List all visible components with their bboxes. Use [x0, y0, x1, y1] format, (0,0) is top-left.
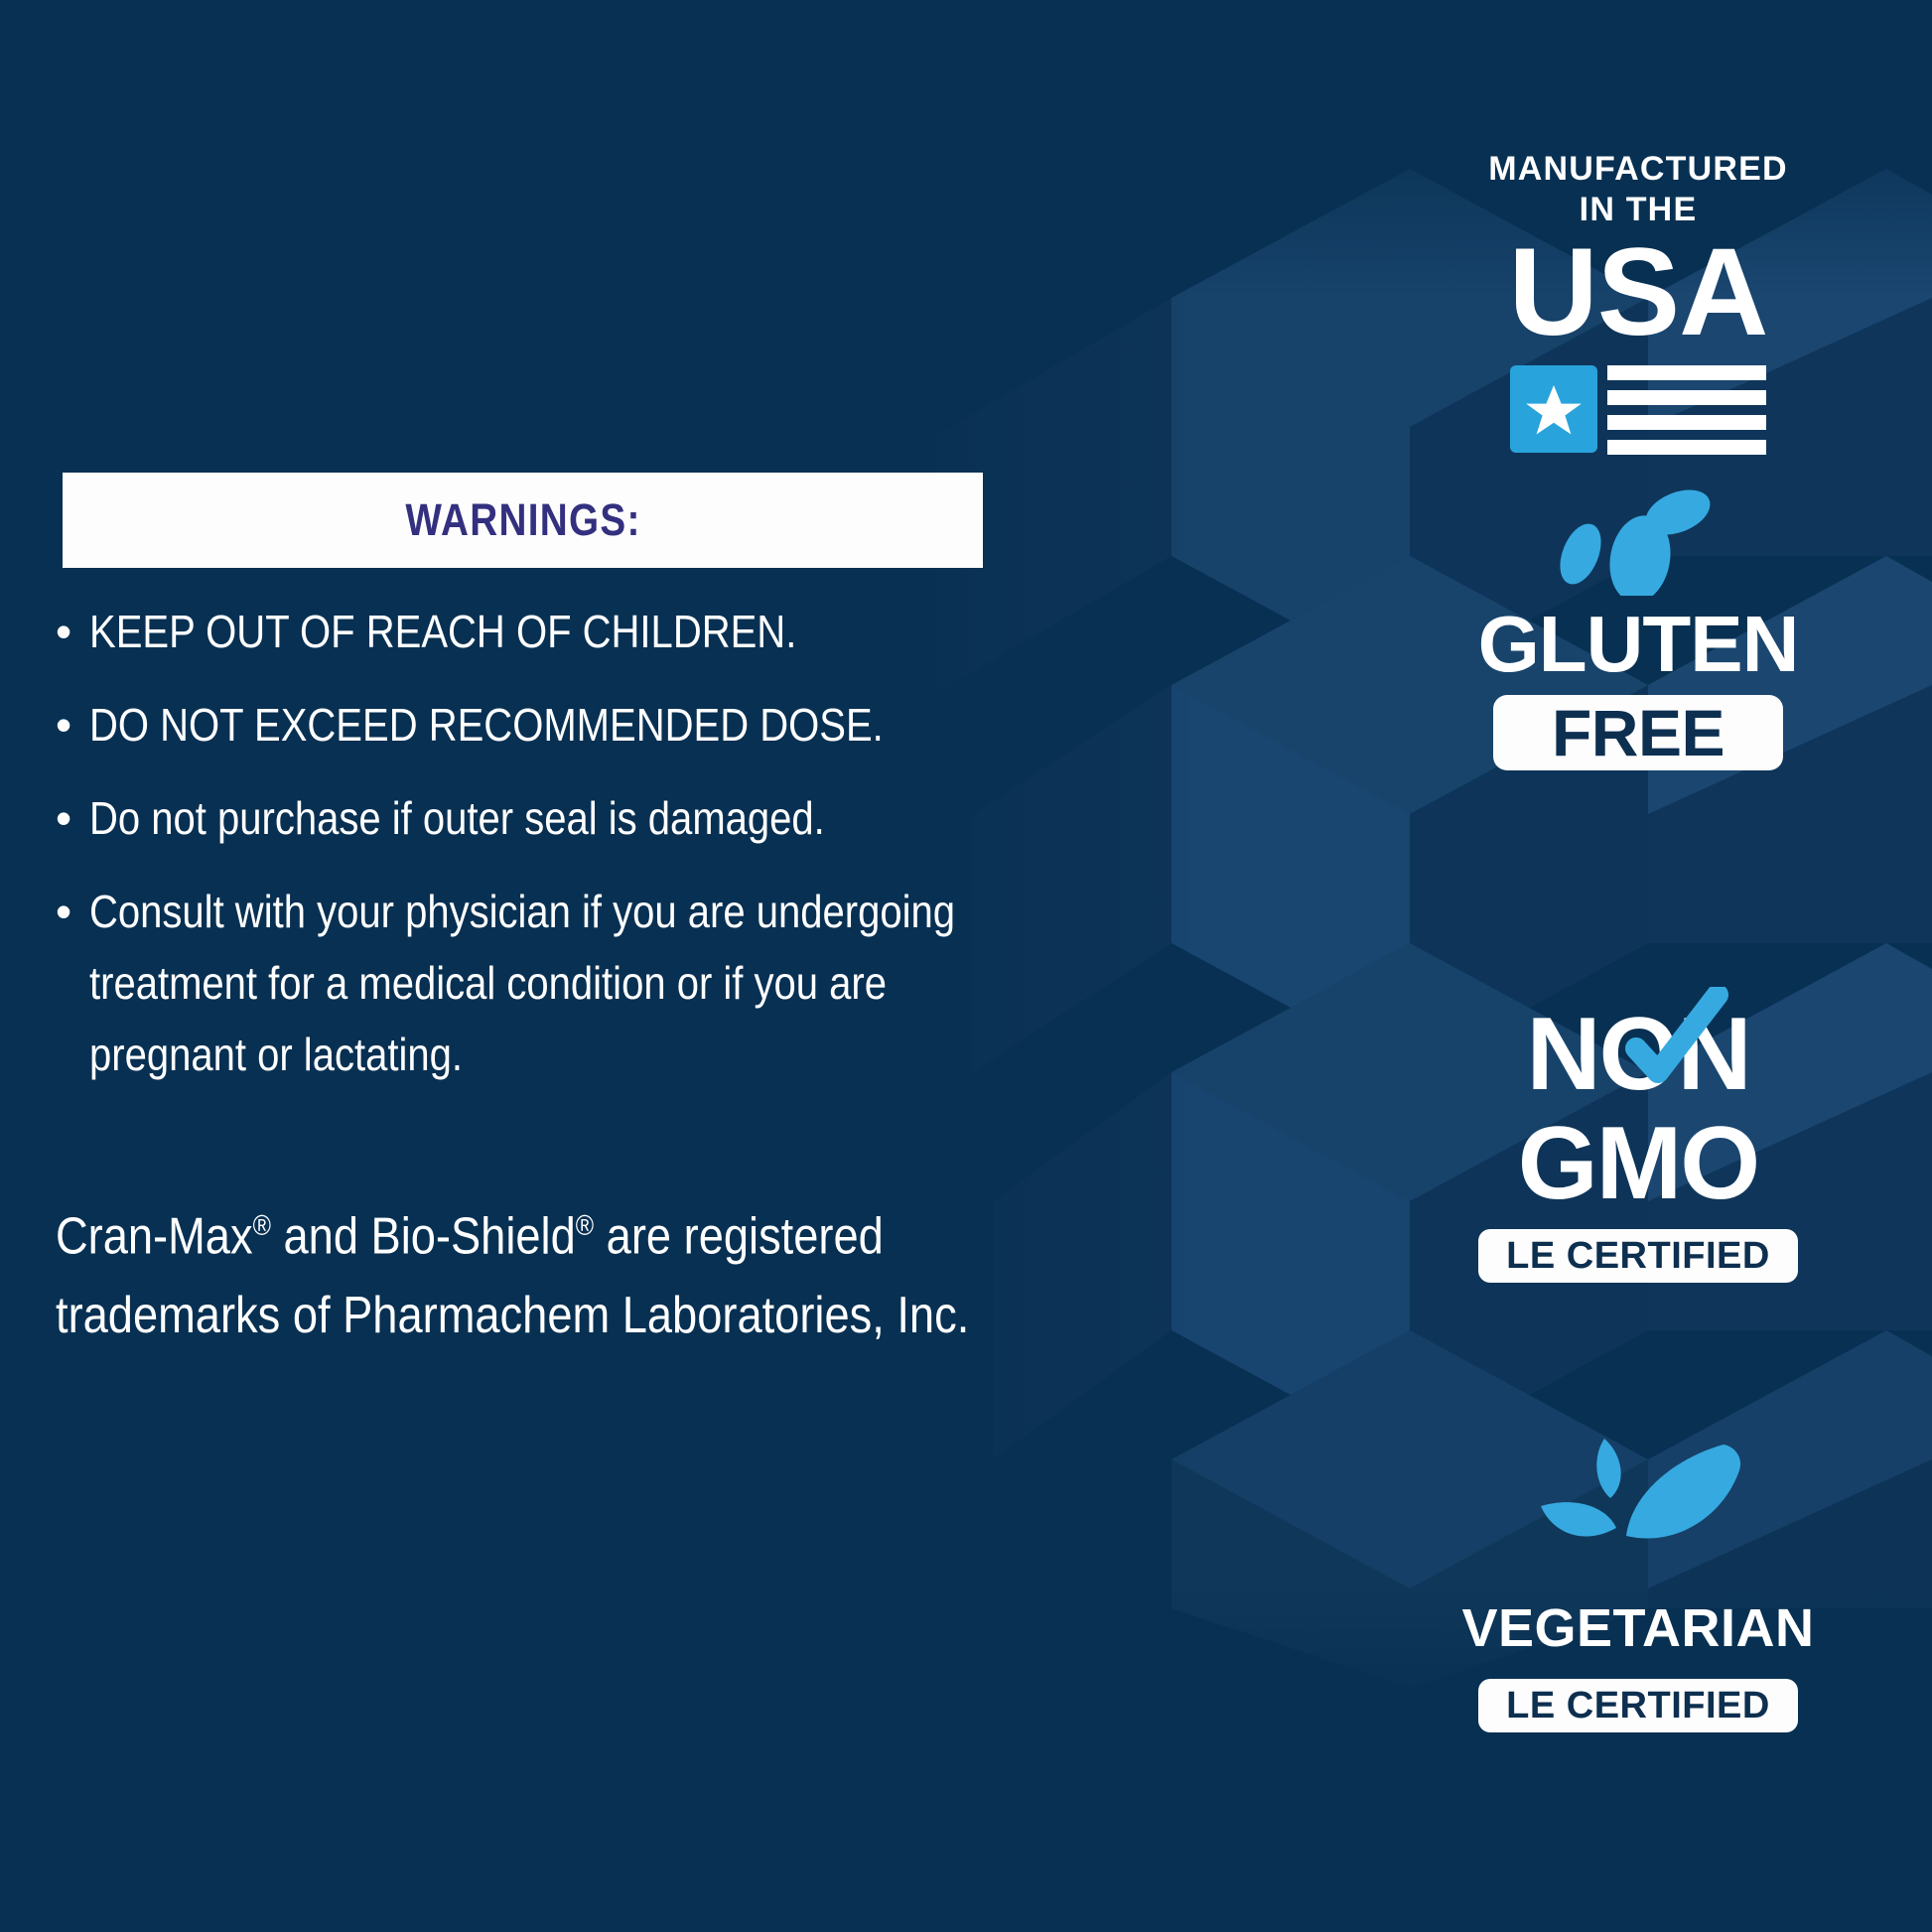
warning-text-4: Consult with your physician if you are u…: [89, 876, 958, 1090]
trademark-part1: Cran-Max: [56, 1207, 253, 1265]
bullet-glyph: •: [56, 596, 89, 667]
usa-badge-line1: MANUFACTURED: [1430, 149, 1847, 189]
gmo-badge-line1: NON: [1430, 1003, 1847, 1110]
bullet-glyph: •: [56, 876, 89, 947]
trademark-part2: and Bio-Shield: [271, 1207, 576, 1265]
checkmark-icon: [1614, 987, 1733, 1106]
gmo-certified-pill: LE CERTIFIED: [1478, 1229, 1798, 1283]
leaf-sprout-icon: [1430, 1425, 1847, 1574]
warning-text-1: KEEP OUT OF REACH OF CHILDREN.: [89, 596, 958, 667]
gluten-free-pill-text: FREE: [1552, 700, 1725, 765]
list-item: • Consult with your physician if you are…: [56, 876, 1088, 1090]
list-item: • KEEP OUT OF REACH OF CHILDREN.: [56, 596, 1088, 667]
badge-manufactured-in-usa: MANUFACTURED IN THE USA: [1430, 149, 1847, 463]
bullet-glyph: •: [56, 689, 89, 760]
warnings-section: WARNINGS: • KEEP OUT OF REACH OF CHILDRE…: [0, 0, 1112, 1932]
gluten-badge-word: GLUTEN: [1430, 602, 1847, 687]
list-item: • DO NOT EXCEED RECOMMENDED DOSE.: [56, 689, 1088, 760]
warning-text-3: Do not purchase if outer seal is damaged…: [89, 782, 958, 854]
badge-non-gmo: NON GMO LE CERTIFIED: [1430, 1003, 1847, 1283]
wheat-leaves-icon: [1430, 486, 1847, 596]
list-item: • Do not purchase if outer seal is damag…: [56, 782, 1088, 854]
trademark-notice: Cran-Max® and Bio-Shield® are registered…: [56, 1186, 1118, 1355]
vegetarian-certified-pill: LE CERTIFIED: [1478, 1679, 1798, 1732]
usa-flag-icon: [1510, 365, 1766, 463]
usa-badge-word: USA: [1430, 234, 1847, 351]
warnings-list: • KEEP OUT OF REACH OF CHILDREN. • DO NO…: [56, 596, 1088, 1090]
certification-badges: MANUFACTURED IN THE USA: [1430, 0, 1847, 1932]
product-label-panel: WARNINGS: • KEEP OUT OF REACH OF CHILDRE…: [0, 0, 1932, 1932]
trademark-text: Cran-Max® and Bio-Shield® are registered…: [56, 1186, 1119, 1355]
warnings-banner: WARNINGS:: [63, 473, 983, 568]
badge-gluten-free: GLUTEN FREE: [1430, 486, 1847, 770]
registered-mark-icon: ®: [576, 1210, 594, 1242]
registered-mark-icon: ®: [253, 1210, 271, 1242]
gmo-badge-line2: GMO: [1430, 1112, 1847, 1215]
page-title: WARNINGS:: [405, 494, 640, 546]
warning-text-2: DO NOT EXCEED RECOMMENDED DOSE.: [89, 689, 958, 760]
vegetarian-certified-pill-text: LE CERTIFIED: [1506, 1685, 1770, 1727]
gluten-free-pill: FREE: [1493, 695, 1783, 770]
badge-vegetarian: VEGETARIAN LE CERTIFIED: [1430, 1425, 1847, 1732]
vegetarian-badge-word: VEGETARIAN: [1430, 1599, 1847, 1657]
bullet-glyph: •: [56, 782, 89, 854]
gmo-certified-pill-text: LE CERTIFIED: [1506, 1235, 1770, 1278]
